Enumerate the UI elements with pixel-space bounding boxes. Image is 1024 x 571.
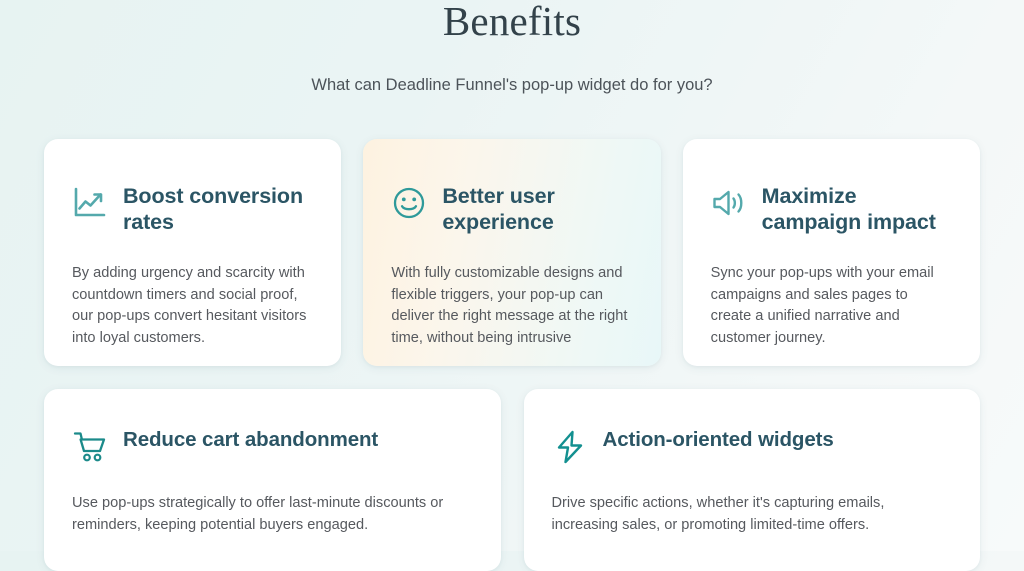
lightning-bolt-icon <box>552 429 588 465</box>
card-title: Boost conversion rates <box>123 183 313 235</box>
benefits-grid-top-row: Boost conversion rates By adding urgency… <box>0 139 1024 366</box>
benefit-card-reduce-cart-abandonment[interactable]: Reduce cart abandonment Use pop-ups stra… <box>44 389 501 571</box>
shopping-cart-icon <box>72 429 108 465</box>
page-title: Benefits <box>0 0 1024 42</box>
benefits-grid-bottom-row: Reduce cart abandonment Use pop-ups stra… <box>0 389 1024 571</box>
chart-line-up-icon <box>72 185 108 221</box>
card-header: Better user experience <box>391 183 632 235</box>
card-body-text: Sync your pop-ups with your email campai… <box>711 235 952 349</box>
page-header: Benefits What can Deadline Funnel's pop-… <box>0 0 1024 95</box>
benefit-card-maximize-campaign-impact[interactable]: Maximize campaign impact Sync your pop-u… <box>683 139 980 366</box>
benefit-card-boost-conversion-rates[interactable]: Boost conversion rates By adding urgency… <box>44 139 341 366</box>
card-body-text: Drive specific actions, whether it's cap… <box>552 465 953 536</box>
benefit-card-better-user-experience[interactable]: Better user experience With fully custom… <box>363 139 660 366</box>
card-body-text: With fully customizable designs and flex… <box>391 235 632 349</box>
card-title: Better user experience <box>442 183 632 235</box>
card-title: Maximize campaign impact <box>762 183 952 235</box>
card-header: Boost conversion rates <box>72 183 313 235</box>
benefits-page: Benefits What can Deadline Funnel's pop-… <box>0 0 1024 551</box>
speaker-volume-icon <box>711 185 747 221</box>
benefit-card-action-oriented-widgets[interactable]: Action-oriented widgets Drive specific a… <box>524 389 981 571</box>
card-header: Maximize campaign impact <box>711 183 952 235</box>
page-subtitle: What can Deadline Funnel's pop-up widget… <box>0 42 1024 95</box>
card-body-text: Use pop-ups strategically to offer last-… <box>72 465 473 536</box>
card-body-text: By adding urgency and scarcity with coun… <box>72 235 313 349</box>
smiley-face-icon <box>391 185 427 221</box>
card-title: Reduce cart abandonment <box>123 427 378 453</box>
card-header: Reduce cart abandonment <box>72 427 473 465</box>
card-title: Action-oriented widgets <box>603 427 834 453</box>
card-header: Action-oriented widgets <box>552 427 953 465</box>
